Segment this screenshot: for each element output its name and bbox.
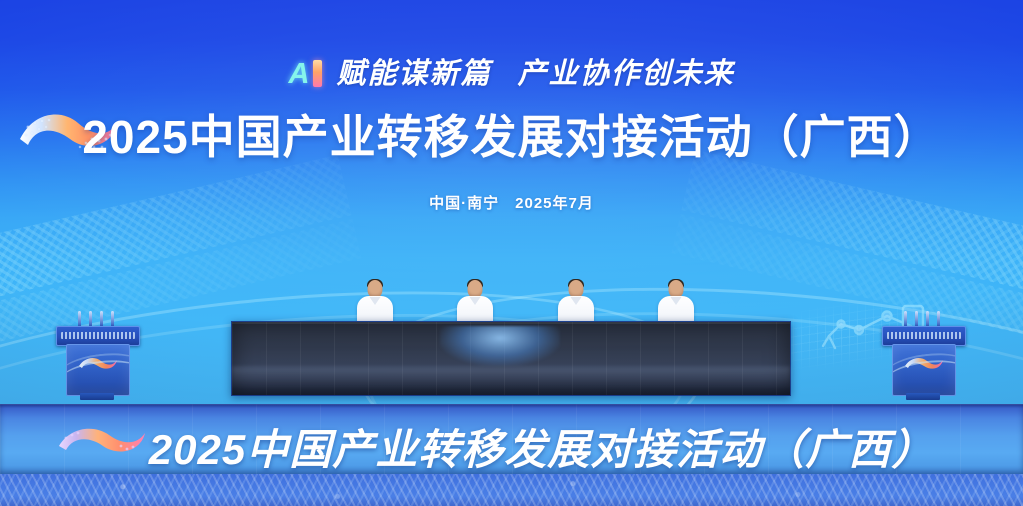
- microphone-cluster: [75, 308, 119, 327]
- podium-right: [880, 308, 966, 400]
- tagline-part-two: 产业协作创未来: [517, 58, 734, 90]
- lower-stage-banner: 2025中国产业转移发展对接活动（广西）: [0, 404, 1023, 474]
- podium-top-panel: [56, 326, 140, 346]
- participant-figure: [355, 280, 395, 326]
- podium-column: [892, 344, 956, 396]
- event-subtitle: 中国·南宁 2025年7月: [0, 192, 1023, 213]
- participant-figure: [656, 280, 696, 326]
- event-tagline: A赋能谋新篇产业协作创未来: [0, 50, 1023, 92]
- microphone-cluster: [901, 308, 945, 327]
- dark-led-console-panel: [231, 321, 791, 396]
- podium-left: [54, 308, 140, 400]
- tagline-part-one: 赋能谋新篇: [336, 58, 491, 90]
- participant-figure: [455, 280, 495, 326]
- ai-letter-i-bar: [313, 60, 322, 87]
- ai-letter-a: A: [289, 58, 312, 90]
- lower-banner-title: 2025中国产业转移发展对接活动（广西）: [0, 416, 1023, 474]
- stage-floor-carpet: [0, 474, 1023, 506]
- podium-base: [906, 393, 940, 400]
- stage-photo: A赋能谋新篇产业协作创未来 2025中国产业转移发展对接活动（广西） 中国·南宁…: [0, 0, 1023, 506]
- led-backdrop: A赋能谋新篇产业协作创未来 2025中国产业转移发展对接活动（广西） 中国·南宁…: [0, 0, 1023, 404]
- event-main-title: 2025中国产业转移发展对接活动（广西）: [0, 101, 1023, 167]
- podium-top-panel: [882, 326, 966, 346]
- participant-figure: [556, 280, 596, 326]
- podium-base: [80, 393, 114, 400]
- podium-column: [66, 344, 130, 396]
